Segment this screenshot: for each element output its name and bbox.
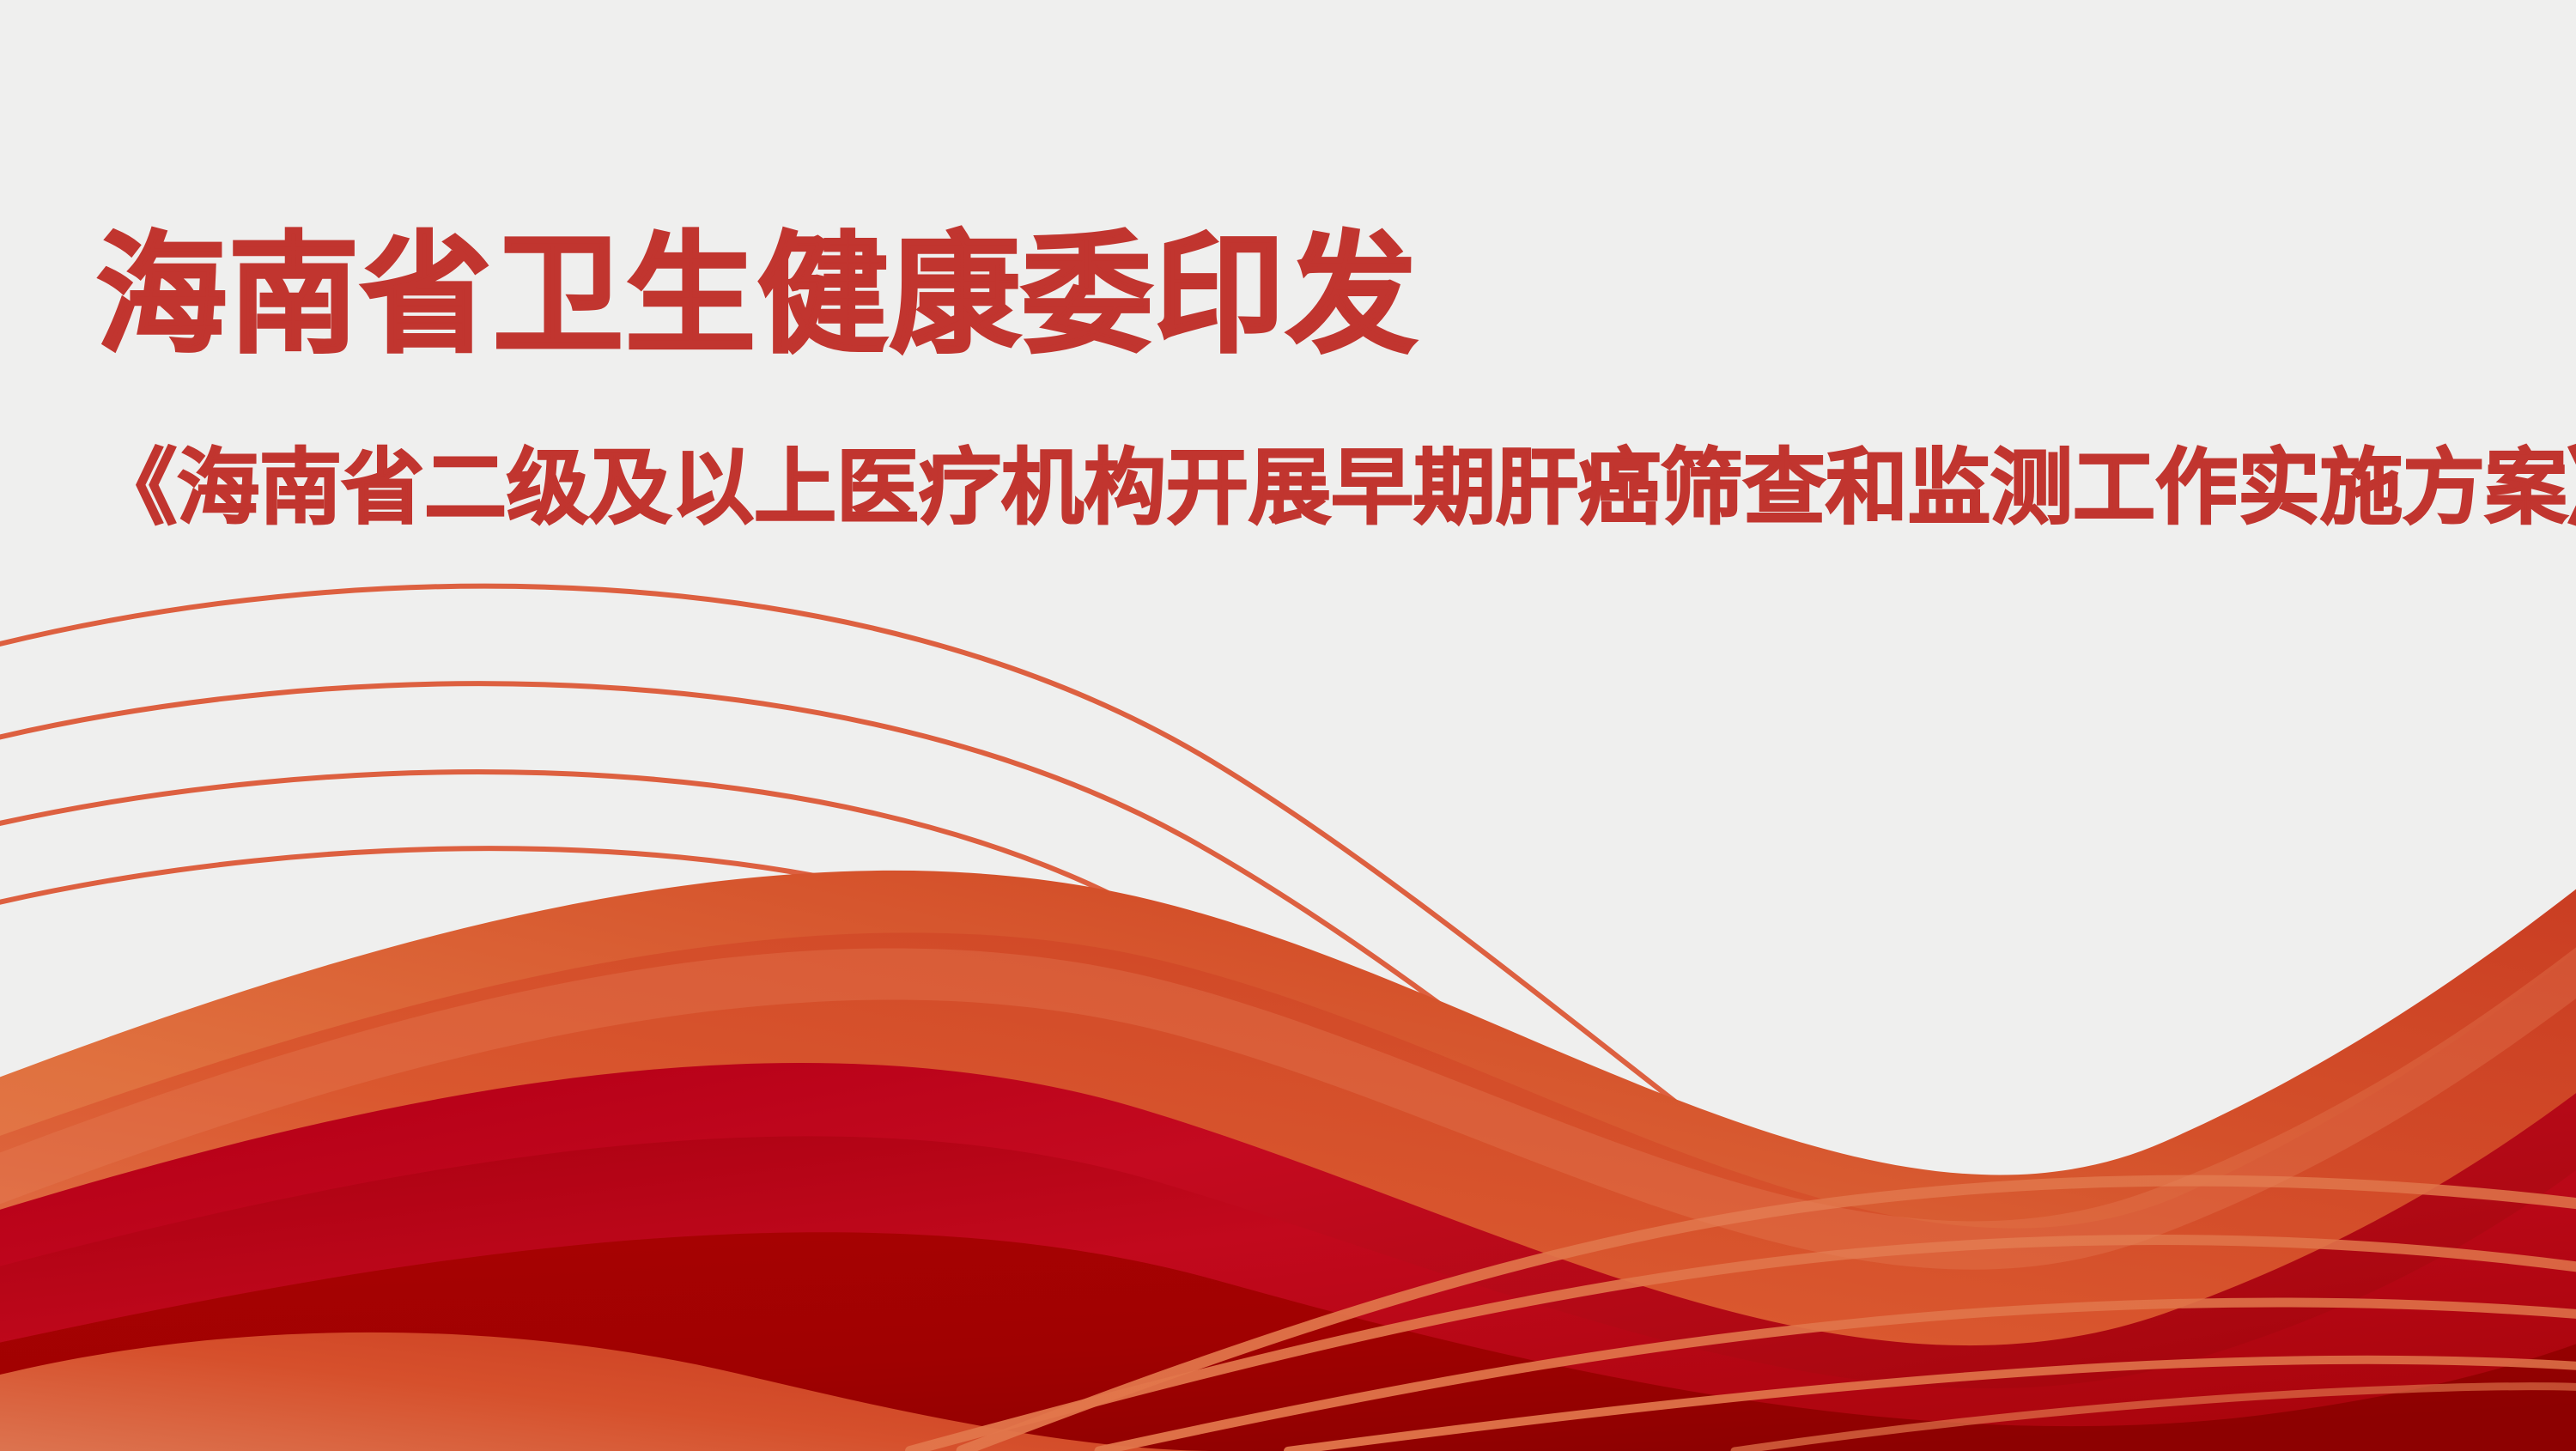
- poster-banner: 海南省卫生健康委印发 《海南省二级及以上医疗机构开展早期肝癌筛查和监测工作实施方…: [0, 0, 2576, 1451]
- background-wave-artwork: [0, 0, 2576, 1451]
